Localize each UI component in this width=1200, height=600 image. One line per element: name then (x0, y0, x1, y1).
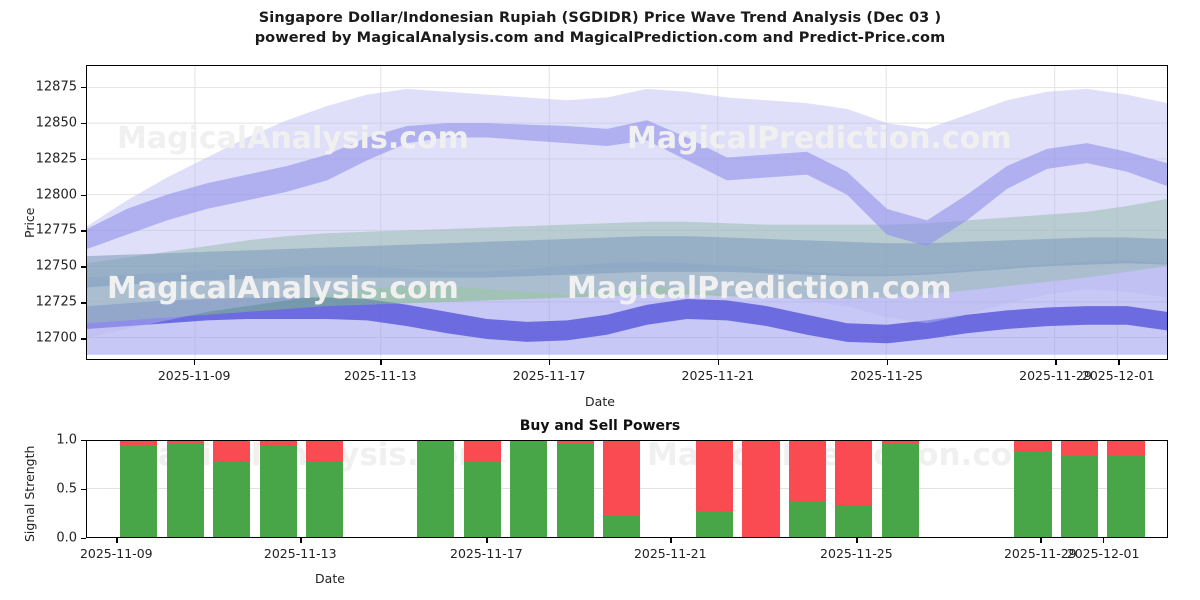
signal-bar[interactable] (120, 441, 157, 537)
sell-power-segment (306, 441, 343, 462)
signal-x-tick-label: 2025-11-09 (80, 546, 153, 561)
signal-bar[interactable] (1061, 441, 1098, 537)
buy-sell-bars (87, 441, 1167, 537)
buy-power-segment (417, 441, 454, 537)
price-x-tick-label: 2025-11-29 (1019, 368, 1092, 383)
title-line-1: Singapore Dollar/Indonesian Rupiah (SGDI… (0, 8, 1200, 28)
signal-bar[interactable] (557, 441, 594, 537)
signal-chart-panel: MagicalAnalysis.com MagicalPrediction.co… (86, 440, 1168, 538)
sell-power-segment (557, 441, 594, 444)
chart-page: Singapore Dollar/Indonesian Rupiah (SGDI… (0, 0, 1200, 600)
signal-x-tick-label: 2025-11-25 (820, 546, 893, 561)
signal-y-tick-label: 0.5 (56, 482, 77, 497)
price-y-tick-label: 12750 (36, 259, 77, 274)
price-x-tick-label: 2025-11-17 (513, 368, 586, 383)
buy-power-segment (1061, 456, 1098, 537)
sell-power-segment (260, 441, 297, 445)
sell-power-segment (1014, 441, 1051, 451)
sell-power-segment (464, 441, 501, 461)
price-x-tick-label: 2025-12-01 (1082, 368, 1155, 383)
signal-bar[interactable] (510, 441, 547, 537)
price-x-tick-mark (887, 360, 888, 365)
price-wave-plot (87, 66, 1167, 359)
signal-x-tick-label: 2025-11-17 (450, 546, 523, 561)
signal-bar[interactable] (306, 441, 343, 537)
price-x-axis-title: Date (585, 394, 615, 409)
buy-power-segment (603, 516, 640, 537)
price-y-tick-label: 12875 (36, 79, 77, 94)
buy-power-segment (510, 441, 547, 537)
buy-power-segment (464, 461, 501, 537)
price-x-tick-mark (1118, 360, 1119, 365)
signal-bar[interactable] (260, 441, 297, 537)
buy-power-segment (557, 444, 594, 537)
signal-x-tick-mark (300, 538, 301, 543)
signal-bar[interactable] (167, 441, 204, 537)
sell-power-segment (1061, 441, 1098, 456)
price-y-tick-label: 12825 (36, 151, 77, 166)
price-chart-panel: MagicalAnalysis.com MagicalPrediction.co… (86, 65, 1168, 360)
signal-x-tick-mark (670, 538, 671, 543)
signal-bar[interactable] (603, 441, 640, 537)
buy-power-segment (1107, 456, 1144, 537)
signal-x-tick-mark (486, 538, 487, 543)
sell-power-segment (213, 441, 250, 462)
buy-power-segment (306, 462, 343, 537)
price-x-tick-mark (549, 360, 550, 365)
price-x-tick-mark (380, 360, 381, 365)
buy-power-segment (167, 444, 204, 537)
signal-bar[interactable] (417, 441, 454, 537)
price-y-tick-label: 12775 (36, 223, 77, 238)
price-y-tick-label: 12850 (36, 115, 77, 130)
signal-x-tick-mark (856, 538, 857, 543)
page-title: Singapore Dollar/Indonesian Rupiah (SGDI… (0, 8, 1200, 48)
price-y-tick-label: 12725 (36, 295, 77, 310)
sell-power-segment (120, 441, 157, 445)
signal-y-axis-title: Signal Strength (22, 446, 37, 542)
price-y-axis-title: Price (22, 208, 37, 239)
sell-power-segment (696, 441, 733, 511)
signal-y-tick-label: 0.0 (56, 531, 77, 546)
price-x-tick-label: 2025-11-13 (344, 368, 417, 383)
signal-bar[interactable] (1107, 441, 1144, 537)
buy-power-segment (260, 445, 297, 537)
signal-y-tick-label: 1.0 (56, 433, 77, 448)
sell-power-segment (835, 441, 872, 505)
signal-bar[interactable] (696, 441, 733, 537)
sell-power-segment (167, 441, 204, 444)
signal-x-tick-label: 2025-12-01 (1067, 546, 1140, 561)
price-x-tick-label: 2025-11-25 (850, 368, 923, 383)
title-line-2: powered by MagicalAnalysis.com and Magic… (0, 28, 1200, 48)
signal-bar[interactable] (835, 441, 872, 537)
buy-power-segment (882, 444, 919, 537)
sell-power-segment (789, 441, 826, 501)
sell-power-segment (603, 441, 640, 516)
signal-bar[interactable] (742, 441, 779, 537)
sell-power-segment (882, 441, 919, 444)
signal-x-tick-mark (116, 538, 117, 543)
signal-bar[interactable] (789, 441, 826, 537)
price-y-tick-label: 12800 (36, 187, 77, 202)
price-x-tick-mark (718, 360, 719, 365)
buy-power-segment (835, 505, 872, 537)
signal-x-tick-mark (1040, 538, 1041, 543)
price-x-tick-mark (1055, 360, 1056, 365)
buy-power-segment (213, 462, 250, 537)
signal-bar[interactable] (1014, 441, 1051, 537)
buy-power-segment (1014, 451, 1051, 537)
signal-y-tick-mark (81, 538, 86, 539)
signal-bar[interactable] (464, 441, 501, 537)
signal-chart-title: Buy and Sell Powers (0, 418, 1200, 434)
price-x-tick-label: 2025-11-21 (682, 368, 755, 383)
signal-x-tick-label: 2025-11-21 (634, 546, 707, 561)
price-x-tick-mark (194, 360, 195, 365)
signal-x-axis-title: Date (315, 571, 345, 586)
sell-power-segment (1107, 441, 1144, 456)
signal-bar[interactable] (213, 441, 250, 537)
signal-bar[interactable] (882, 441, 919, 537)
buy-power-segment (120, 445, 157, 537)
price-y-tick-label: 12700 (36, 331, 77, 346)
buy-power-segment (696, 511, 733, 537)
signal-x-tick-label: 2025-11-13 (264, 546, 337, 561)
sell-power-segment (742, 441, 779, 537)
buy-power-segment (789, 501, 826, 537)
price-x-tick-label: 2025-11-09 (158, 368, 231, 383)
signal-x-tick-label: 2025-11-29 (1004, 546, 1077, 561)
signal-x-tick-mark (1103, 538, 1104, 543)
